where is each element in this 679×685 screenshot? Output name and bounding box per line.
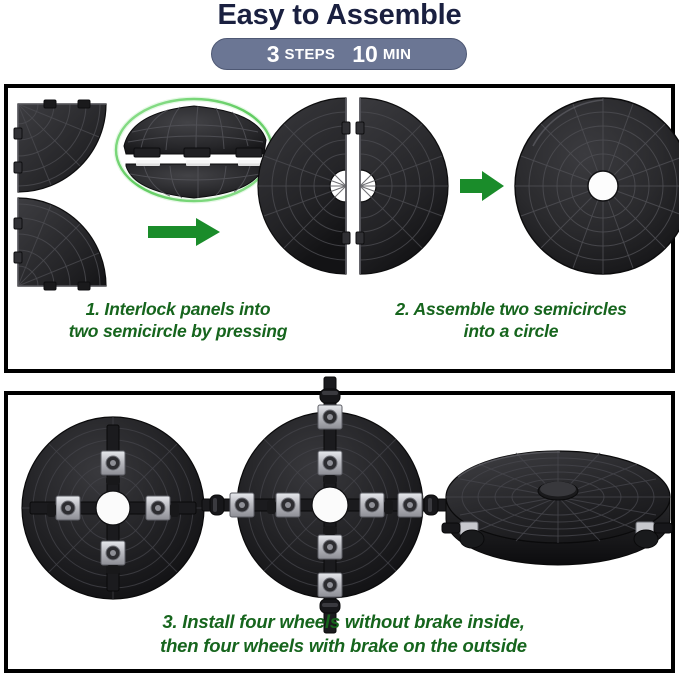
base-with-inner-wheels xyxy=(22,417,204,599)
outer-brake-wheel xyxy=(210,493,254,517)
badge-steps-count: 3 xyxy=(267,43,280,66)
quarter-panel-upper xyxy=(14,90,109,192)
caption-step-3: 3. Install four wheels without brake ins… xyxy=(18,610,669,658)
badge-minutes-label: MIN xyxy=(383,47,411,62)
assembly-arrow-2 xyxy=(460,171,504,201)
caption-step-2-line2: into a circle xyxy=(353,320,669,342)
page-title: Easy to Assemble xyxy=(0,0,679,32)
caption-step-1-line2: two semicircle by pressing xyxy=(18,320,338,342)
assembled-caddy-perspective xyxy=(442,451,672,565)
badge-minutes-count: 10 xyxy=(352,43,378,66)
caption-step-3-line2: then four wheels with brake on the outsi… xyxy=(18,634,669,658)
step-3-illustration xyxy=(8,395,671,610)
interlock-detail-callout xyxy=(116,99,272,201)
quarter-panel-lower xyxy=(14,198,106,290)
two-semicircles xyxy=(258,98,448,274)
caption-step-2: 2. Assemble two semicircles into a circl… xyxy=(353,298,669,342)
caption-step-1: 1. Interlock panels into two semicircle … xyxy=(18,298,338,342)
badge-steps-label: STEPS xyxy=(285,47,336,62)
caption-step-3-line1: 3. Install four wheels without brake ins… xyxy=(18,610,669,634)
full-circle-base xyxy=(515,98,679,274)
caption-step-1-line1: 1. Interlock panels into xyxy=(18,298,338,320)
base-with-all-wheels xyxy=(202,377,458,633)
instruction-panel-steps-1-2: 1. Interlock panels into two semicircle … xyxy=(4,84,675,373)
header: Easy to Assemble 3 STEPS 10 MIN xyxy=(0,0,679,80)
caddy-caster-left xyxy=(442,522,484,548)
caddy-caster-right xyxy=(634,522,672,548)
outer-brake-wheel xyxy=(318,389,342,429)
outer-brake-wheel xyxy=(398,493,438,517)
assembly-arrow-1 xyxy=(148,218,220,246)
outer-brake-wheel xyxy=(318,573,342,613)
steps-1-2-illustration xyxy=(8,88,671,298)
status-badge: 3 STEPS 10 MIN xyxy=(211,38,467,70)
instruction-panel-step-3: 3. Install four wheels without brake ins… xyxy=(4,391,675,673)
caption-step-2-line1: 2. Assemble two semicircles xyxy=(353,298,669,320)
